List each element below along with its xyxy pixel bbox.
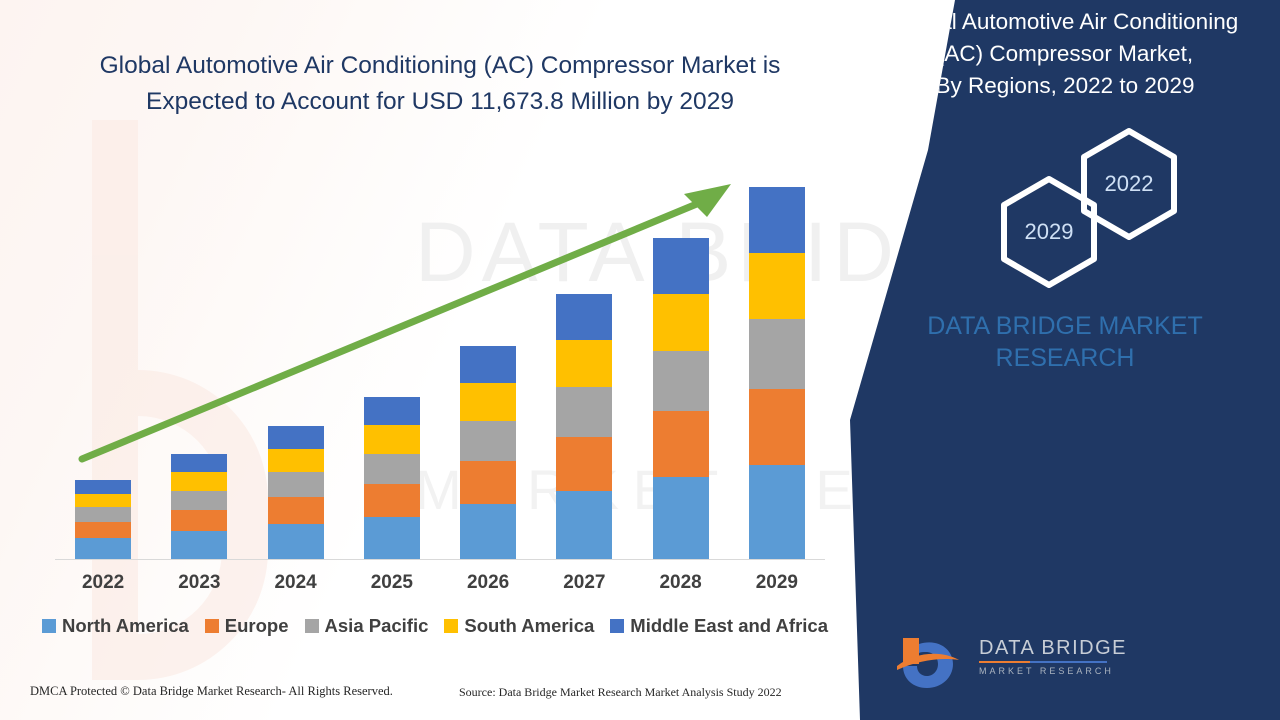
logo-line2: MARKET RESEARCH [979,665,1109,677]
bar-segment [75,494,131,508]
chart-panel: DATA BRIDGE MARKET RESEARCH Global Autom… [0,0,1000,720]
brand-name-line1: DATA BRIDGE MARKET [865,310,1265,342]
x-axis-label: 2023 [171,572,227,594]
legend-swatch-icon [610,619,624,633]
legend-swatch-icon [205,619,219,633]
bar-segment [556,294,612,340]
bar-segment [171,454,227,472]
bar-column [268,426,324,559]
x-axis-label: 2029 [749,572,805,594]
legend-swatch-icon [305,619,319,633]
bar-segment [171,491,227,510]
bar-segment [75,538,131,559]
bar-segment [460,504,516,559]
x-axis-line [55,559,825,560]
legend-swatch-icon [444,619,458,633]
legend-label: North America [62,615,189,637]
legend-label: South America [464,615,594,637]
bar-segment [75,480,131,494]
x-axis-label: 2027 [556,572,612,594]
bar-column [171,454,227,559]
bar-segment [364,425,420,454]
legend-item[interactable]: Middle East and Africa [610,615,828,637]
bar-segment [653,477,709,559]
bar-segment [556,437,612,491]
bar-segment [364,454,420,484]
hexagon-end-year-label: 2029 [997,174,1101,290]
bar-segment [749,187,805,253]
bar-segment [653,238,709,294]
bar-column [556,294,612,559]
x-axis-labels: 20222023202420252026202720282029 [55,572,825,594]
brand-name-line2: RESEARCH [865,342,1265,374]
x-axis-label: 2026 [460,572,516,594]
legend-label: Asia Pacific [325,615,429,637]
x-axis-label: 2022 [75,572,131,594]
bar-segment [364,397,420,425]
bar-segment [653,351,709,411]
data-bridge-b-icon [895,632,973,694]
legend-label: Europe [225,615,289,637]
bar-segment [268,472,324,497]
bar-column [460,346,516,559]
bar-segment [75,522,131,538]
footer-source: Source: Data Bridge Market Research Mark… [459,685,782,700]
bar-segment [460,346,516,383]
chart-legend: North AmericaEuropeAsia PacificSouth Ame… [40,615,830,637]
bar-segment [171,472,227,490]
bar-column [749,187,805,559]
bar-segment [653,411,709,477]
bar-segment [75,507,131,522]
x-axis-label: 2024 [268,572,324,594]
bar-segment [460,461,516,505]
company-logo: DATA BRIDGE MARKET RESEARCH [895,632,1105,694]
infographic-root: DATA BRIDGE MARKET RESEARCH Global Autom… [0,0,1280,720]
bar-column [653,238,709,559]
bar-segment [460,421,516,461]
bar-column [364,397,420,559]
bar-segment [556,387,612,437]
bar-segment [268,449,324,472]
legend-swatch-icon [42,619,56,633]
bar-group [55,170,825,559]
bar-segment [749,319,805,389]
logo-line1: DATA BRIDGE [979,636,1109,660]
x-axis-label: 2025 [364,572,420,594]
brand-name: DATA BRIDGE MARKET RESEARCH [865,310,1265,374]
bar-segment [364,517,420,559]
logo-divider [979,661,1107,663]
legend-item[interactable]: Europe [205,615,289,637]
legend-item[interactable]: North America [42,615,189,637]
bar-segment [364,484,420,517]
x-axis-label: 2028 [653,572,709,594]
bar-segment [653,294,709,351]
bar-segment [268,497,324,524]
chart-title: Global Automotive Air Conditioning (AC) … [50,48,830,120]
footer-copyright: DMCA Protected © Data Bridge Market Rese… [30,684,393,699]
bar-segment [749,253,805,319]
bar-segment [268,524,324,559]
bar-segment [268,426,324,449]
bar-column [75,480,131,559]
legend-item[interactable]: Asia Pacific [305,615,429,637]
bar-segment [749,389,805,465]
plot-area [55,170,825,560]
bar-segment [171,531,227,559]
bar-segment [556,340,612,387]
bar-segment [556,491,612,559]
legend-label: Middle East and Africa [630,615,828,637]
bar-segment [171,510,227,531]
bar-segment [749,465,805,559]
logo-wordmark: DATA BRIDGE MARKET RESEARCH [979,636,1109,677]
legend-item[interactable]: South America [444,615,594,637]
hexagon-badge-end-year: 2029 [997,174,1101,290]
bar-segment [460,383,516,421]
